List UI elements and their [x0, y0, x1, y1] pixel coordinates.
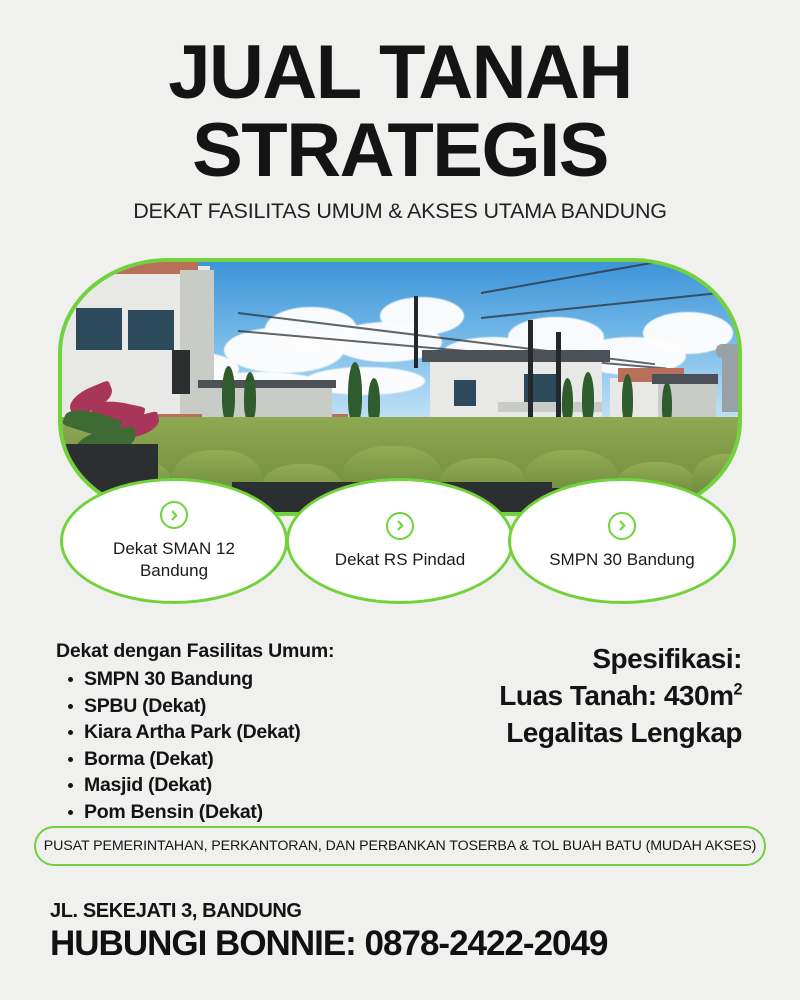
facilities-title: Dekat dengan Fasilitas Umum:: [56, 640, 416, 663]
facility-item: Pom Bensin (Dekat): [56, 799, 416, 826]
badge-label: SMPN 30 Bandung: [549, 549, 695, 570]
badge-item-rs-pindad[interactable]: Dekat RS Pindad: [286, 478, 514, 604]
badge-label: Dekat RS Pindad: [335, 549, 465, 570]
headline-line-1: JUAL TANAH: [0, 36, 800, 110]
headline-block: JUAL TANAH STRATEGIS DEKAT FASILITAS UMU…: [0, 36, 800, 224]
photo-inner: [62, 262, 738, 512]
headline-line-2: STRATEGIS: [0, 114, 800, 188]
facility-item: Kiara Artha Park (Dekat): [56, 719, 416, 746]
footer-block: JL. SEKEJATI 3, BANDUNG HUBUNGI BONNIE: …: [50, 900, 770, 964]
info-banner: PUSAT PEMERINTAHAN, PERKANTORAN, DAN PER…: [34, 826, 766, 866]
specs-area-unit: 2: [733, 681, 742, 699]
footer-contact[interactable]: HUBUNGI BONNIE: 0878-2422-2049: [50, 924, 770, 964]
specs-title: Spesifikasi:: [412, 640, 742, 677]
badge-item-smpn-30[interactable]: SMPN 30 Bandung: [508, 478, 736, 604]
badge-label: Dekat SMAN 12 Bandung: [87, 538, 261, 581]
info-banner-text: PUSAT PEMERINTAHAN, PERKANTORAN, DAN PER…: [44, 838, 756, 854]
badge-row: Dekat SMAN 12 Bandung Dekat RS Pindad SM…: [0, 478, 800, 608]
specs-block: Spesifikasi: Luas Tanah: 430m2 Legalitas…: [412, 640, 742, 752]
facility-item: Masjid (Dekat): [56, 772, 416, 799]
specs-land-area-text: Luas Tanah: 430m: [499, 680, 733, 711]
chevron-right-icon: [608, 512, 636, 540]
facilities-block: Dekat dengan Fasilitas Umum: SMPN 30 Ban…: [56, 640, 416, 825]
specs-legality: Legalitas Lengkap: [412, 714, 742, 751]
facility-item: SPBU (Dekat): [56, 693, 416, 720]
chevron-right-icon: [160, 501, 188, 529]
chevron-right-icon: [386, 512, 414, 540]
specs-land-area: Luas Tanah: 430m2: [412, 677, 742, 714]
facility-item: Borma (Dekat): [56, 746, 416, 773]
poster-root: JUAL TANAH STRATEGIS DEKAT FASILITAS UMU…: [0, 0, 800, 1000]
footer-address: JL. SEKEJATI 3, BANDUNG: [50, 900, 770, 923]
subtitle: DEKAT FASILITAS UMUM & AKSES UTAMA BANDU…: [0, 199, 800, 224]
facilities-list: SMPN 30 Bandung SPBU (Dekat) Kiara Artha…: [56, 666, 416, 825]
badge-item-sman-12[interactable]: Dekat SMAN 12 Bandung: [60, 478, 288, 604]
facility-item: SMPN 30 Bandung: [56, 666, 416, 693]
